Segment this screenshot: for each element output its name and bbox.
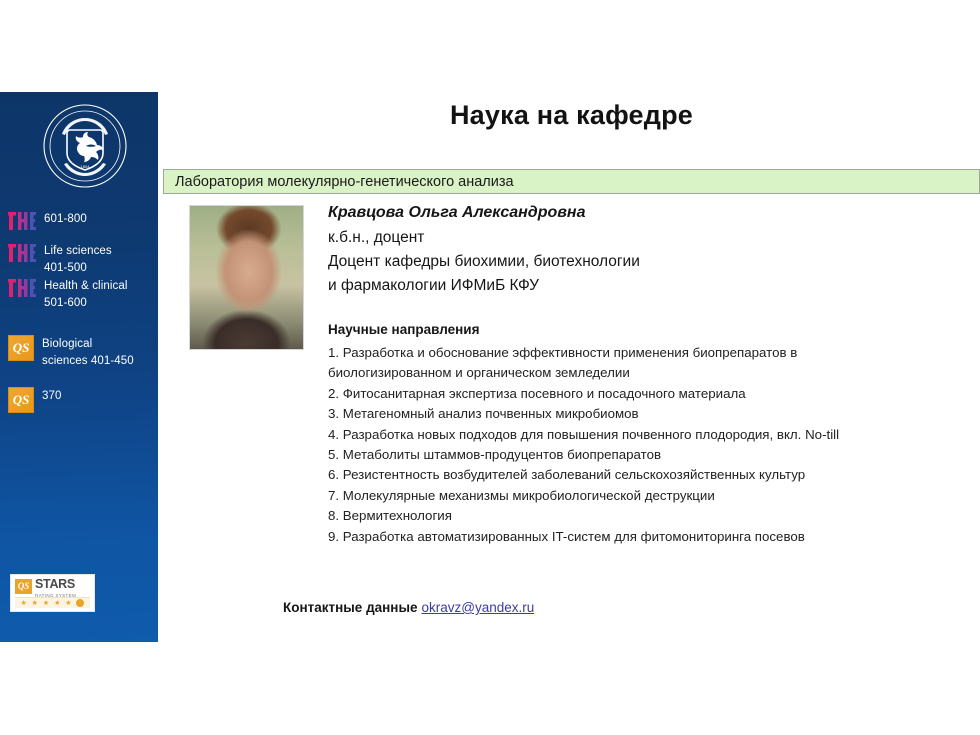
person-role-line2: и фармакологии ИФМиБ КФУ	[328, 277, 539, 295]
star-icon: ★	[20, 600, 26, 607]
page-title: Наука на кафедре	[163, 100, 980, 131]
contact-email-link[interactable]: okravz@yandex.ru	[422, 600, 535, 615]
university-emblem-icon: 1804	[40, 102, 130, 190]
person-degree: к.б.н., доцент	[328, 229, 424, 247]
qs-logo-icon: QS	[8, 387, 34, 413]
contact-block: Контактные данныеokravz@yandex.ru	[283, 600, 534, 615]
qs-logo-icon: QS	[8, 335, 34, 361]
ranking-the-health-clinical: Health & clinical 501-600	[8, 277, 158, 312]
ranking-qs-biological-sciences: QS Biological sciences 401-450	[8, 335, 158, 370]
list-item: 2. Фитосанитарная экспертиза посевного и…	[328, 384, 893, 404]
the-logo-icon	[8, 277, 36, 299]
list-item: 8. Вермитехнология	[328, 506, 893, 526]
ranking-the-life-sciences: Life sciences 401-500	[8, 242, 158, 277]
qs-stars-subtitle: RATING SYSTEM	[35, 593, 78, 598]
list-item: 3. Метагеномный анализ почвенных микроби…	[328, 404, 893, 424]
list-item: 4. Разработка новых подходов для повышен…	[328, 425, 893, 445]
lab-banner: Лаборатория молекулярно-генетического ан…	[163, 169, 980, 194]
qs-stars-mark-icon: QS	[15, 579, 32, 594]
lab-banner-label: Лаборатория молекулярно-генетического ан…	[175, 174, 514, 190]
star-badge-circle-icon	[76, 599, 84, 607]
ranking-qs-overall: QS 370	[8, 387, 158, 413]
slide-content: Наука на кафедре Лаборатория молекулярно…	[163, 92, 980, 642]
sidebar-panel: 1804 601-800	[0, 92, 158, 642]
research-directions-list: 1. Разработка и обоснование эффективност…	[328, 343, 893, 547]
the-logo-icon	[8, 210, 36, 232]
ranking-label: Life sciences 401-500	[44, 242, 112, 277]
contact-label: Контактные данные	[283, 600, 418, 615]
star-icon: ★	[65, 600, 71, 607]
list-item: 7. Молекулярные механизмы микробиологиче…	[328, 486, 893, 506]
svg-text:1804: 1804	[81, 164, 91, 169]
ranking-label: Biological sciences 401-450	[42, 335, 134, 370]
list-item: 5. Метаболиты штаммов-продуцентов биопре…	[328, 445, 893, 465]
ranking-label: 370	[42, 387, 62, 405]
slide-canvas: 1804 601-800	[0, 0, 980, 735]
qs-stars-word: STARS	[35, 577, 75, 591]
person-name: Кравцова Ольга Александровна	[328, 204, 585, 222]
list-item: 6. Резистентность возбудителей заболеван…	[328, 465, 893, 485]
star-icon: ★	[32, 600, 38, 607]
qs-stars-badge: QS STARS RATING SYSTEM ★ ★ ★ ★ ★	[10, 574, 95, 612]
the-logo-icon	[8, 242, 36, 264]
research-directions-heading: Научные направления	[328, 322, 479, 337]
list-item: 1. Разработка и обоснование эффективност…	[328, 343, 893, 384]
list-item: 9. Разработка автоматизированных IT-сист…	[328, 527, 893, 547]
star-icon: ★	[43, 600, 49, 607]
qs-stars-rating-strip: ★ ★ ★ ★ ★	[15, 597, 90, 608]
star-icon: ★	[54, 600, 60, 607]
ranking-label: Health & clinical 501-600	[44, 277, 128, 312]
person-photo	[189, 205, 304, 350]
ranking-the-overall: 601-800	[8, 210, 158, 232]
person-role-line1: Доцент кафедры биохимии, биотехнологии	[328, 253, 640, 271]
ranking-label: 601-800	[44, 210, 87, 228]
